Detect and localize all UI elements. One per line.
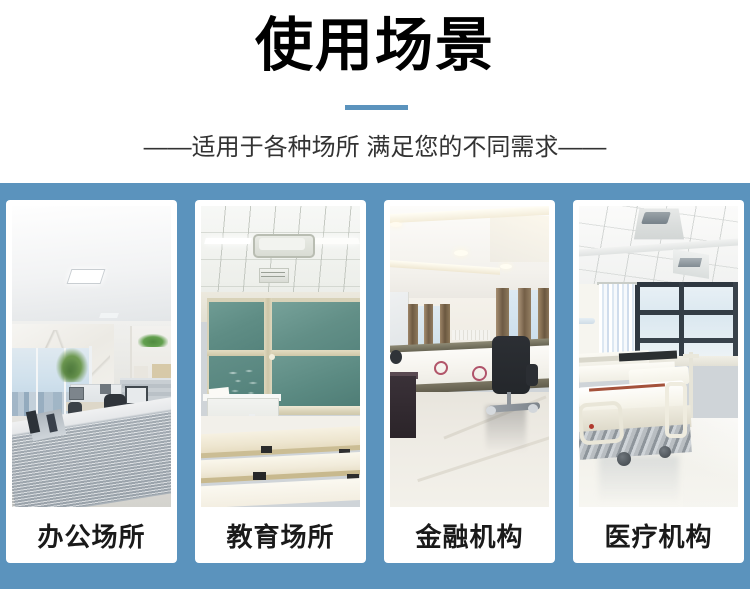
hospital-photo [579,206,738,507]
bank-photo [390,206,549,507]
bank-cabinet [390,376,416,438]
classroom-board-post [264,298,272,408]
use-case-section: 使用场景 ——适用于各种场所 满足您的不同需求—— [0,0,750,589]
scene-card-finance[interactable]: 金融机构 [384,200,555,563]
classroom-linear-light-icon [204,238,252,244]
bank-downlight-icon [454,250,468,256]
scene-card-label-office: 办公场所 [12,507,171,563]
page-title: 使用场景 [0,14,750,78]
hospital-floor-reflection [599,456,679,504]
hospital-window-frame [635,338,738,343]
hospital-wall-shelf [579,318,595,324]
scene-card-label-education: 教育场所 [201,507,360,563]
classroom-projector-detail [261,272,285,273]
hospital-window [635,282,738,360]
classroom-ac-inner [259,238,305,250]
scene-card-label-finance: 金融机构 [390,507,549,563]
hospital-window-frame [733,282,738,360]
office-monitor-icon [69,387,84,400]
page-subtitle: ——适用于各种场所 满足您的不同需求—— [0,133,750,163]
bank-downlight-icon [390,222,402,227]
hospital-bed-button-icon [589,424,594,429]
classroom-photo [201,206,360,507]
scene-card-office[interactable]: 办公场所 [6,200,177,563]
office-ceiling [12,206,171,326]
office-plant-inner [61,358,81,384]
hospital-window-frame [635,282,640,360]
classroom-linear-light-icon [312,238,360,244]
hospital-bed-caster [659,446,671,458]
hospital-iv-pole-hook [683,354,699,358]
hospital-floor-shine [683,418,738,507]
hospital-window-frame [635,310,738,315]
bank-foreground-object [390,350,402,364]
hospital-bed-side-rail [579,401,624,446]
hospital-vent-icon [678,258,702,267]
hospital-window-frame [635,282,738,287]
scene-card-label-medical: 医疗机构 [579,507,738,563]
card-row: 办公场所 [6,200,744,563]
classroom-projector-detail [261,276,285,277]
hospital-vent-icon [641,212,671,224]
bank-curtain [408,304,418,350]
scene-card-medical[interactable]: 医疗机构 [573,200,744,563]
classroom-desk-fitting [253,472,266,480]
bank-chair-caster [528,404,538,413]
bank-downlight-icon [500,264,512,269]
classroom-board-knob [269,354,275,360]
classroom-desk-fitting [261,446,272,453]
bank-office-chair-icon [492,336,530,394]
bank-radiator [452,330,490,340]
office-window-mullion [36,348,38,420]
bank-ceiling-soffit [490,216,549,262]
office-panel-light-icon [67,269,106,284]
office-photo [12,206,171,507]
classroom-chalkboard-panel [271,302,360,352]
hospital-window-frame [679,282,684,360]
classroom-chalkboard-panel [209,302,264,352]
hospital-bed-caster [617,452,631,466]
bank-chair-caster [486,406,496,415]
cards-band: 办公场所 [0,183,750,589]
office-panel-light-secondary-icon [99,313,119,318]
section-header: 使用场景 ——适用于各种场所 满足您的不同需求—— [0,0,750,183]
classroom-chalkboard-panel [271,356,360,406]
hospital-bed-head-rail [665,382,687,438]
bank-mirror-panel [390,292,409,348]
bank-chair-armrest [526,364,538,386]
accent-divider [345,105,408,110]
office-monitor-icon [100,384,111,394]
scene-card-education[interactable]: 教育场所 [195,200,366,563]
classroom-board-rail [207,350,360,356]
office-shelf-plant-icon [138,334,168,347]
